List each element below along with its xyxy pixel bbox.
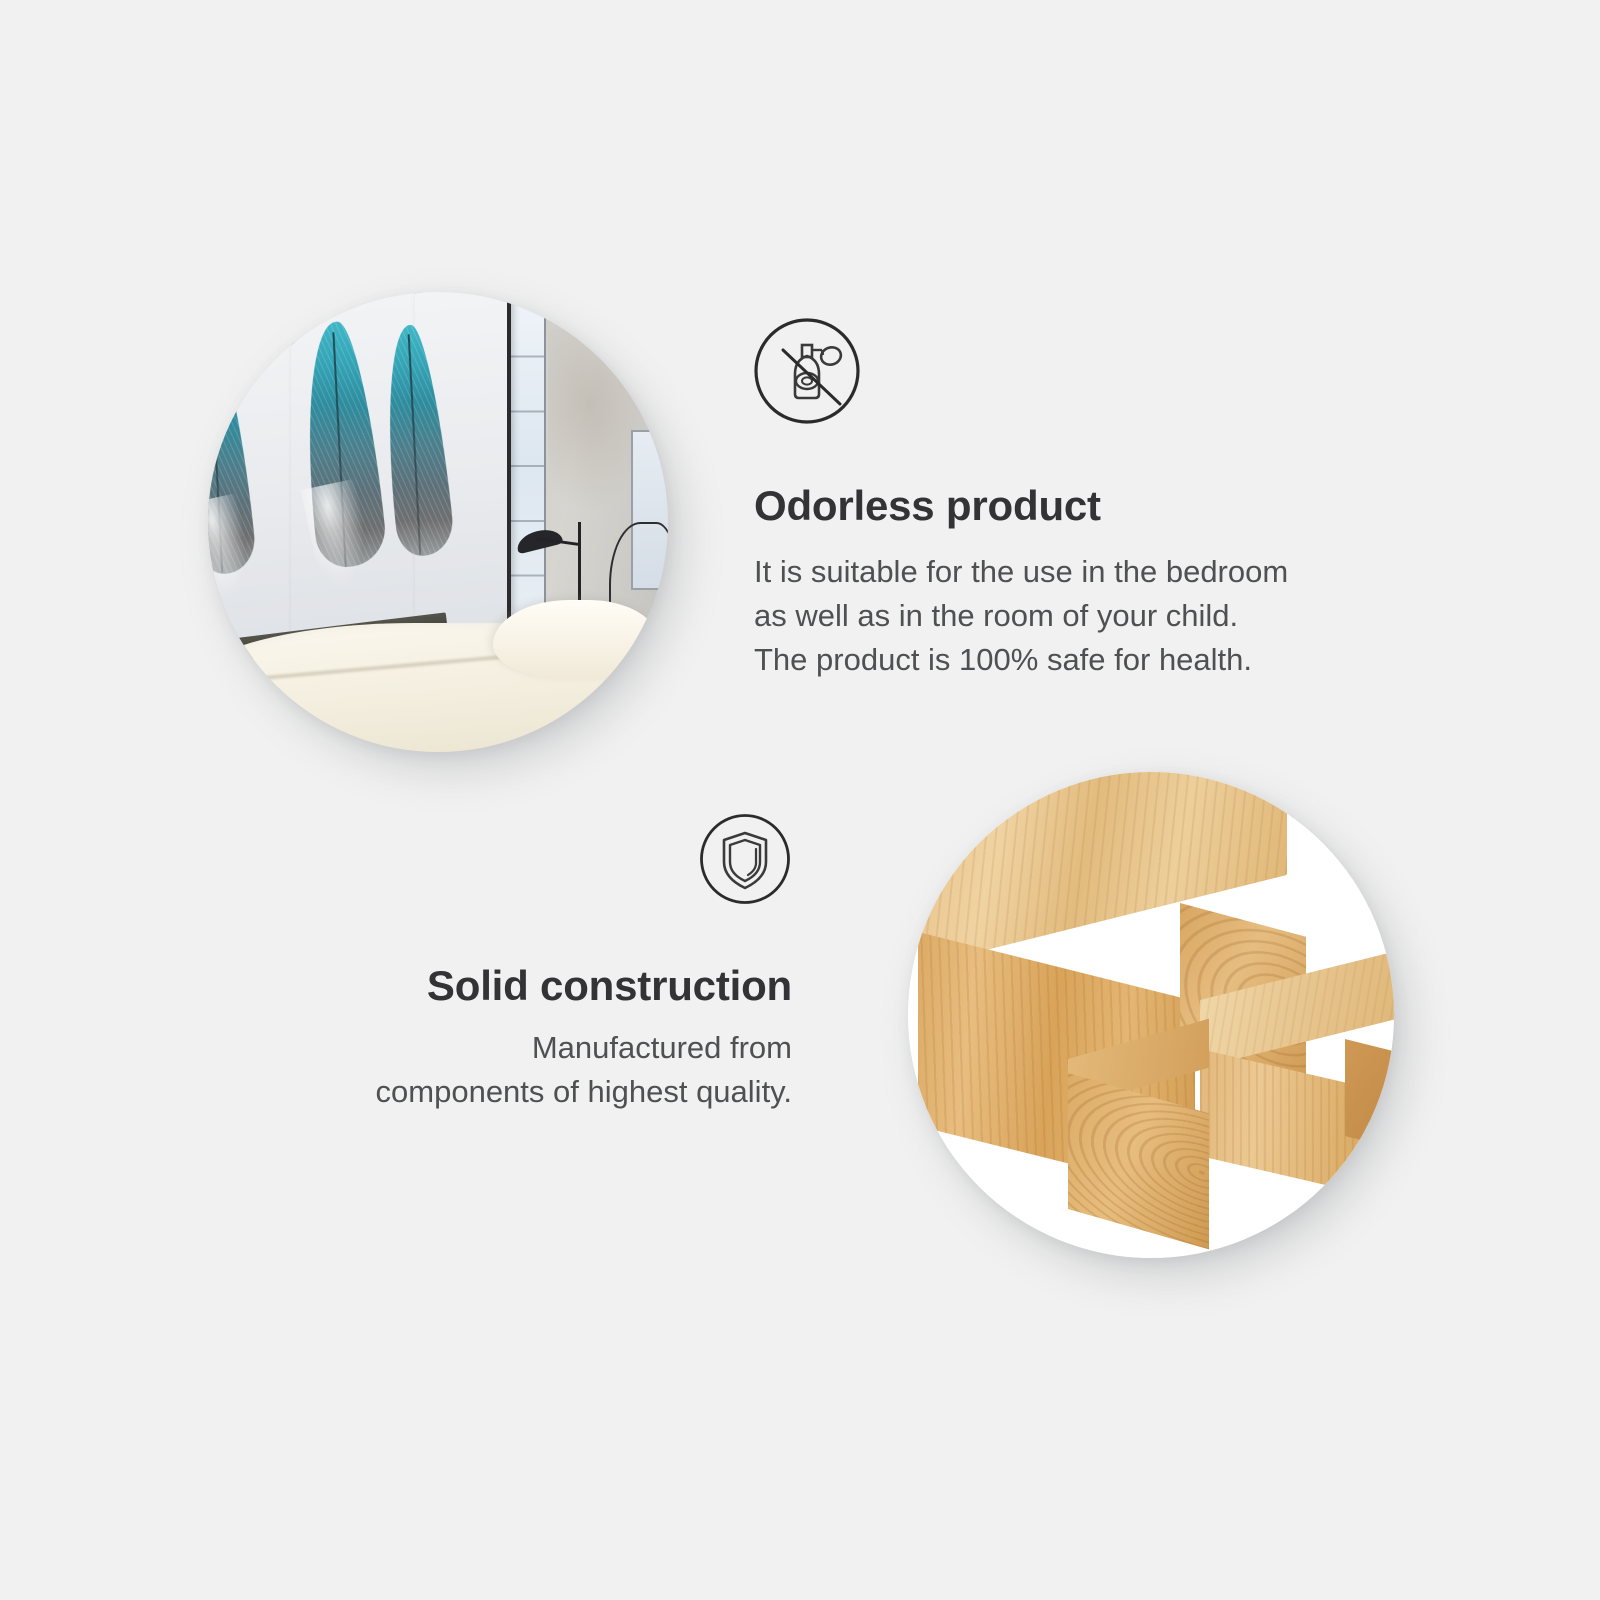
bedroom-scene <box>208 292 668 752</box>
right-plank-front-face <box>1200 1049 1365 1194</box>
feature-description-solid-construction: Manufactured from components of highest … <box>260 1026 792 1114</box>
feature-description-odorless: It is suitable for the use in the bedroo… <box>754 550 1288 682</box>
no-fragrance-icon-svg <box>752 316 862 426</box>
feature-text-odorless: Odorless product It is suitable for the … <box>754 482 1288 682</box>
canvas-panel-right <box>415 292 511 632</box>
shield-icon <box>698 812 792 911</box>
shield-icon-svg <box>698 812 792 906</box>
marketing-infographic: Odorless product It is suitable for the … <box>0 0 1600 1600</box>
wooden-blocks-scene <box>908 772 1394 1258</box>
right-plank-end-grain <box>1345 1039 1394 1152</box>
no-fragrance-icon <box>752 316 862 431</box>
feature-title-odorless: Odorless product <box>754 482 1288 530</box>
bedroom-with-feather-canvas-photo <box>208 292 668 752</box>
canvas-panel-left <box>208 301 295 651</box>
feature-title-solid-construction: Solid construction <box>260 962 792 1010</box>
feature-text-solid-construction: Solid construction Manufactured from com… <box>260 962 792 1114</box>
pillow <box>493 600 659 678</box>
wooden-blocks-photo <box>908 772 1394 1258</box>
